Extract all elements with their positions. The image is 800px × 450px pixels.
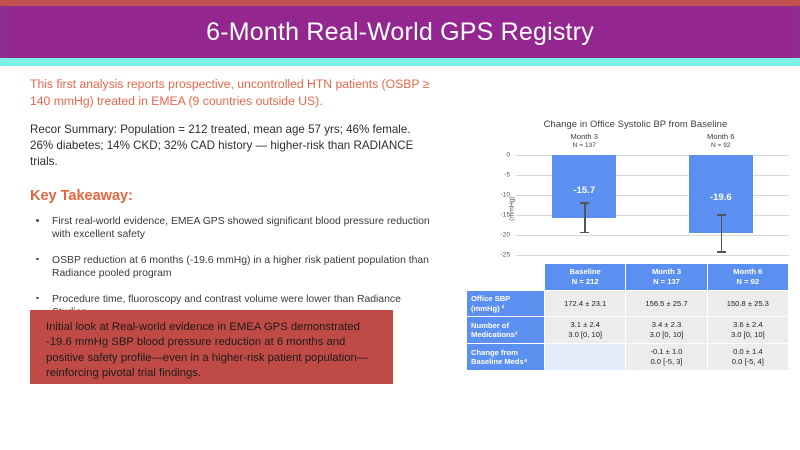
- list-item-text: OSBP reduction at 6 months (-19.6 mmHg) …: [52, 255, 429, 279]
- key-takeaway-heading: Key Takeaway:: [30, 188, 450, 204]
- y-axis-tick-label: -25: [480, 252, 510, 259]
- error-bar-cap: [717, 251, 726, 252]
- bullet-dot-icon: [36, 258, 39, 261]
- table-cell: 3.6 ± 2.43.0 [0, 10]: [707, 317, 788, 344]
- row-header-line: Office SBP: [471, 294, 540, 304]
- recor-summary-paragraph: Recor Summary: Population = 212 treated,…: [30, 122, 435, 170]
- callout-text: Initial look at Real-world evidence in E…: [46, 320, 379, 382]
- row-header-line: Baseline Meds⁴: [471, 357, 540, 367]
- col-label: Month 3: [630, 267, 702, 277]
- cell-value-secondary: 0.0 [-5, 4]: [712, 357, 784, 367]
- cell-value: 3.6 ± 2.4: [712, 320, 784, 330]
- table-col-baseline: Baseline N = 212: [545, 264, 626, 291]
- chart-gridline: [516, 235, 789, 236]
- footer: gulf PCR C IM Adapted from TCT980 Initia…: [0, 404, 800, 450]
- col-label: Baseline: [549, 267, 621, 277]
- row-header-line: Number of: [471, 321, 540, 331]
- category-n-label: N = 92: [653, 142, 790, 149]
- table-cell: -0.1 ± 1.00.0 [-5, 3]: [626, 344, 707, 371]
- category-label: Month 6: [653, 132, 790, 141]
- row-header-line: Medications³: [471, 330, 540, 340]
- chart-title: Change in Office Systolic BP from Baseli…: [478, 118, 793, 129]
- y-axis-tick-label: 0: [480, 152, 510, 159]
- category-label: Month 3: [516, 132, 653, 141]
- table-row-header: Office SBP(mmHg) ²: [467, 291, 545, 317]
- error-bar-cap: [717, 214, 726, 215]
- cell-value-secondary: 3.0 [0, 10]: [712, 330, 784, 340]
- table-cell: 156.5 ± 25.7: [626, 291, 707, 317]
- bar-chart: Change in Office Systolic BP from Baseli…: [478, 118, 793, 258]
- col-sublabel: N = 92: [712, 277, 784, 287]
- slide-canvas: 6-Month Real-World GPS Registry This fir…: [0, 0, 800, 450]
- lead-paragraph: This first analysis reports prospective,…: [30, 76, 445, 110]
- table-col-month6: Month 6 N = 92: [707, 264, 788, 291]
- table-cell: 0.0 ± 1.40.0 [-5, 4]: [707, 344, 788, 371]
- y-axis-tick-label: -10: [480, 192, 510, 199]
- cell-value-secondary: 3.0 [0, 10]: [549, 330, 621, 340]
- list-item: First real-world evidence, EMEA GPS show…: [30, 215, 430, 242]
- chart-error-bar: [584, 202, 585, 233]
- table-corner-cell: [467, 264, 545, 291]
- results-table: Baseline N = 212 Month 3 N = 137 Month 6…: [466, 263, 789, 371]
- chart-plot-area: (mmHg) 0-5-10-15-20-25-15.7-19.6: [516, 155, 789, 255]
- error-bar-cap: [580, 202, 589, 203]
- bullet-dot-icon: [36, 297, 39, 300]
- y-axis-tick-label: -15: [480, 212, 510, 219]
- row-header-line: (mmHg) ²: [471, 304, 540, 314]
- list-item-text: First real-world evidence, EMEA GPS show…: [52, 216, 430, 240]
- callout-box: Initial look at Real-world evidence in E…: [30, 310, 393, 384]
- table-cell: 3.4 ± 2.33.0 [0, 10]: [626, 317, 707, 344]
- list-item: OSBP reduction at 6 months (-19.6 mmHg) …: [30, 254, 430, 281]
- chart-gridline: [516, 255, 789, 256]
- table-row-header: Number ofMedications³: [467, 317, 545, 344]
- cell-value: 3.4 ± 2.3: [630, 320, 702, 330]
- table-row: Change fromBaseline Meds⁴-0.1 ± 1.00.0 […: [467, 344, 789, 371]
- table-header-row: Baseline N = 212 Month 3 N = 137 Month 6…: [467, 264, 789, 291]
- col-sublabel: N = 212: [549, 277, 621, 287]
- chart-error-bar: [721, 214, 722, 252]
- table-col-month3: Month 3 N = 137: [626, 264, 707, 291]
- left-content-column: This first analysis reports prospective,…: [30, 76, 450, 331]
- col-label: Month 6: [712, 267, 784, 277]
- chart-category-labels: Month 3 N = 137 Month 6 N = 92: [516, 132, 789, 156]
- table-cell: 3.1 ± 2.43.0 [0, 10]: [545, 317, 626, 344]
- cyan-accent-strip: [0, 58, 800, 66]
- header-band: 6-Month Real-World GPS Registry: [8, 6, 792, 58]
- cell-value-secondary: 3.0 [0, 10]: [630, 330, 702, 340]
- chart-category-month3: Month 3 N = 137: [516, 132, 653, 156]
- table-row: Office SBP(mmHg) ²172.4 ± 23.1156.5 ± 25…: [467, 291, 789, 317]
- row-header-line: Change from: [471, 348, 540, 358]
- key-takeaway-bullet-list: First real-world evidence, EMEA GPS show…: [30, 215, 450, 319]
- cell-value: -0.1 ± 1.0: [630, 347, 702, 357]
- cell-value: 150.8 ± 25.3: [712, 299, 784, 309]
- table-row: Number ofMedications³3.1 ± 2.43.0 [0, 10…: [467, 317, 789, 344]
- cell-value: 3.1 ± 2.4: [549, 320, 621, 330]
- table-cell: 150.8 ± 25.3: [707, 291, 788, 317]
- cell-value: 0.0 ± 1.4: [712, 347, 784, 357]
- y-axis-tick-label: -20: [480, 232, 510, 239]
- page-title: 6-Month Real-World GPS Registry: [206, 18, 594, 47]
- y-axis-tick-label: -5: [480, 172, 510, 179]
- col-sublabel: N = 137: [630, 277, 702, 287]
- bullet-dot-icon: [36, 219, 39, 222]
- error-bar-cap: [580, 232, 589, 233]
- table-row-header: Change fromBaseline Meds⁴: [467, 344, 545, 371]
- chart-category-month6: Month 6 N = 92: [653, 132, 790, 156]
- cell-value: 172.4 ± 23.1: [549, 299, 621, 309]
- table-cell: 172.4 ± 23.1: [545, 291, 626, 317]
- cell-value: 156.5 ± 25.7: [630, 299, 702, 309]
- cell-value-secondary: 0.0 [-5, 3]: [630, 357, 702, 367]
- bar-value-label: -19.6: [689, 192, 753, 203]
- bar-value-label: -15.7: [552, 185, 616, 196]
- category-n-label: N = 137: [516, 142, 653, 149]
- table-cell: [545, 344, 626, 371]
- table-body: Office SBP(mmHg) ²172.4 ± 23.1156.5 ± 25…: [467, 291, 789, 371]
